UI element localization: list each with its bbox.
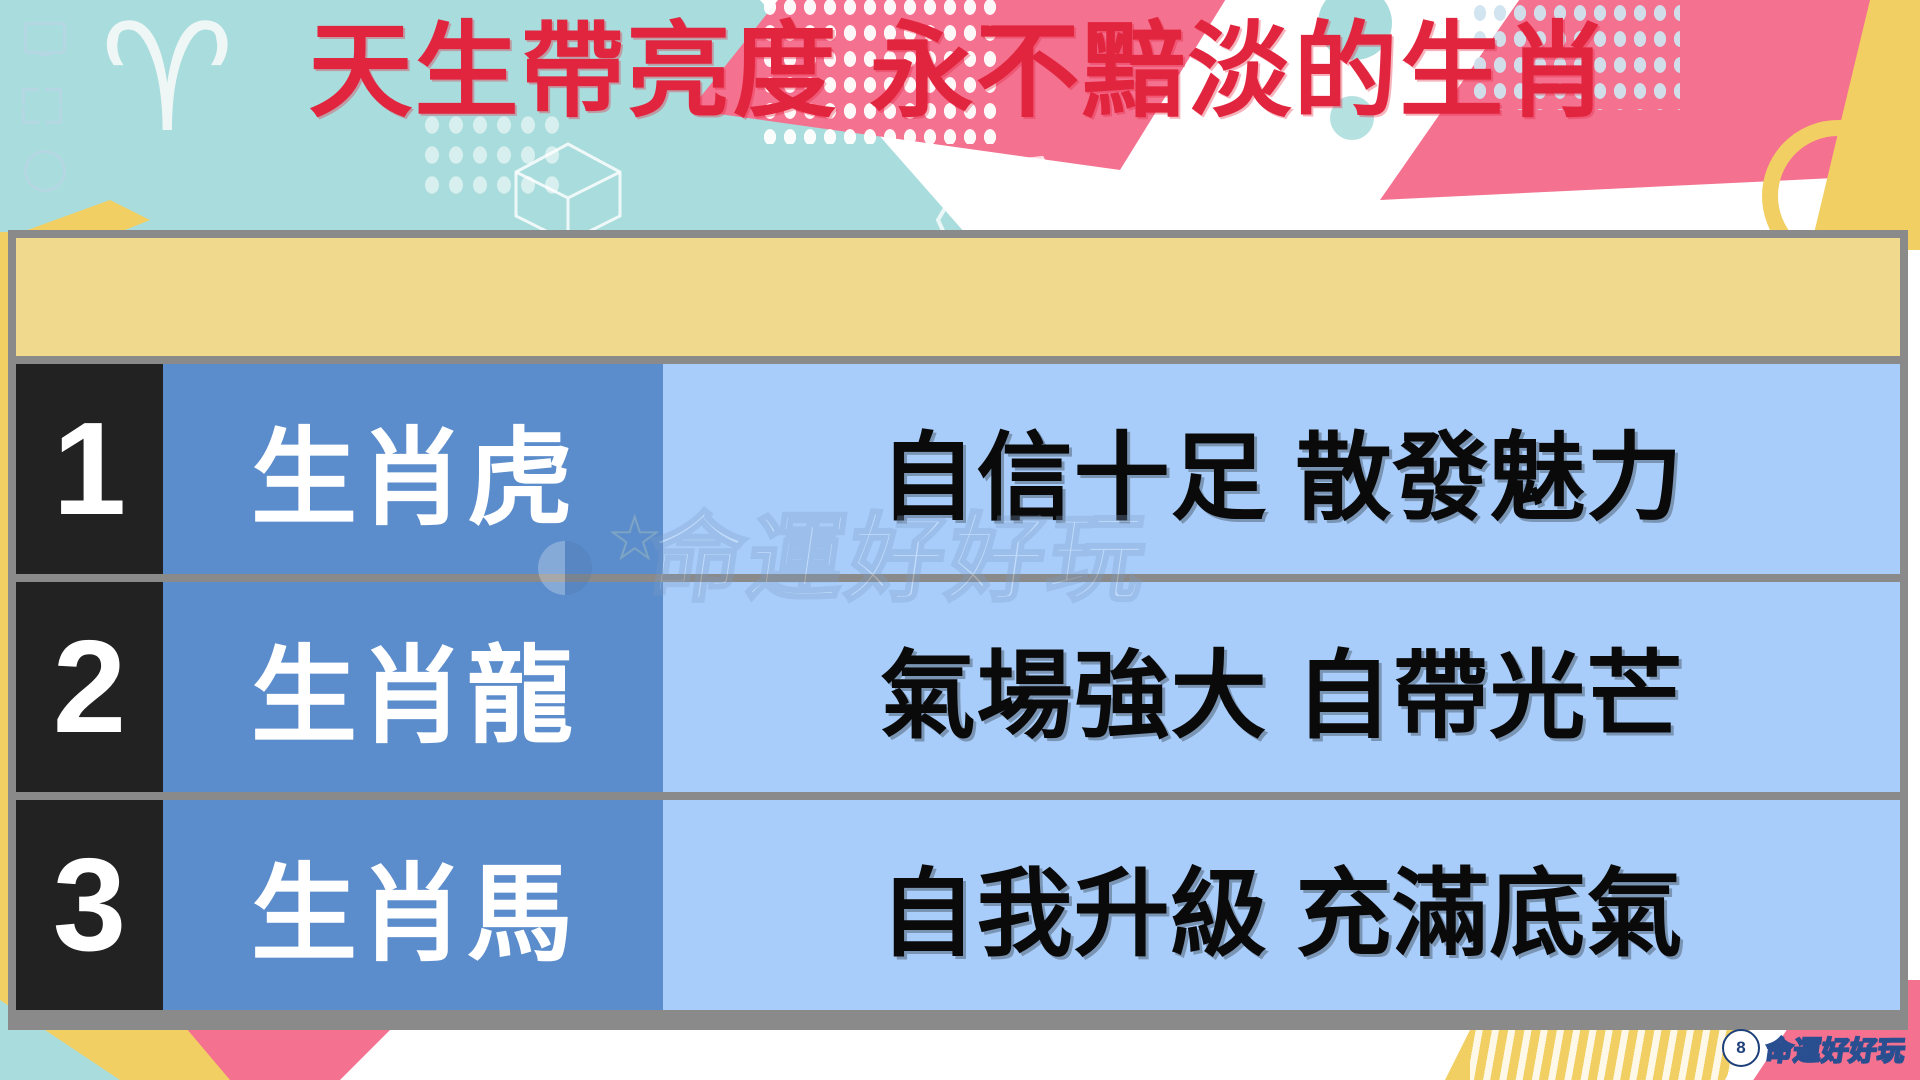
- zodiac-cell: 生肖龍: [163, 582, 663, 792]
- page-title: 天生帶亮度 永不黯淡的生肖: [0, 18, 1920, 127]
- brand-logo-text: 命運好好玩: [1763, 1029, 1908, 1068]
- eightball-icon: 8: [1722, 1029, 1760, 1067]
- poster-canvas: ♈ 天生帶亮度 永不黯淡的生肖 1: [0, 0, 1920, 1080]
- description-cell: 自我升級 充滿底氣: [663, 800, 1900, 1010]
- brand-logo: 8 命運好好玩: [1722, 1022, 1906, 1074]
- table-row: 2 生肖龍 氣場強大 自帶光芒: [16, 582, 1900, 792]
- ranking-table: 1 生肖虎 自信十足 散發魅力 2 生肖龍 氣場強大 自帶光芒 3 生肖馬 自我…: [8, 230, 1908, 1030]
- table-row: 1 生肖虎 自信十足 散發魅力: [16, 364, 1900, 574]
- rank-cell: 1: [16, 364, 163, 574]
- table-row: 3 生肖馬 自我升級 充滿底氣: [16, 800, 1900, 1010]
- rank-cell: 3: [16, 800, 163, 1010]
- description-cell: 自信十足 散發魅力: [663, 364, 1900, 574]
- description-cell: 氣場強大 自帶光芒: [663, 582, 1900, 792]
- refresh-icon: [24, 150, 66, 192]
- zodiac-cell: 生肖虎: [163, 364, 663, 574]
- zodiac-cell: 生肖馬: [163, 800, 663, 1010]
- rank-cell: 2: [16, 582, 163, 792]
- table-header-row: [16, 238, 1900, 356]
